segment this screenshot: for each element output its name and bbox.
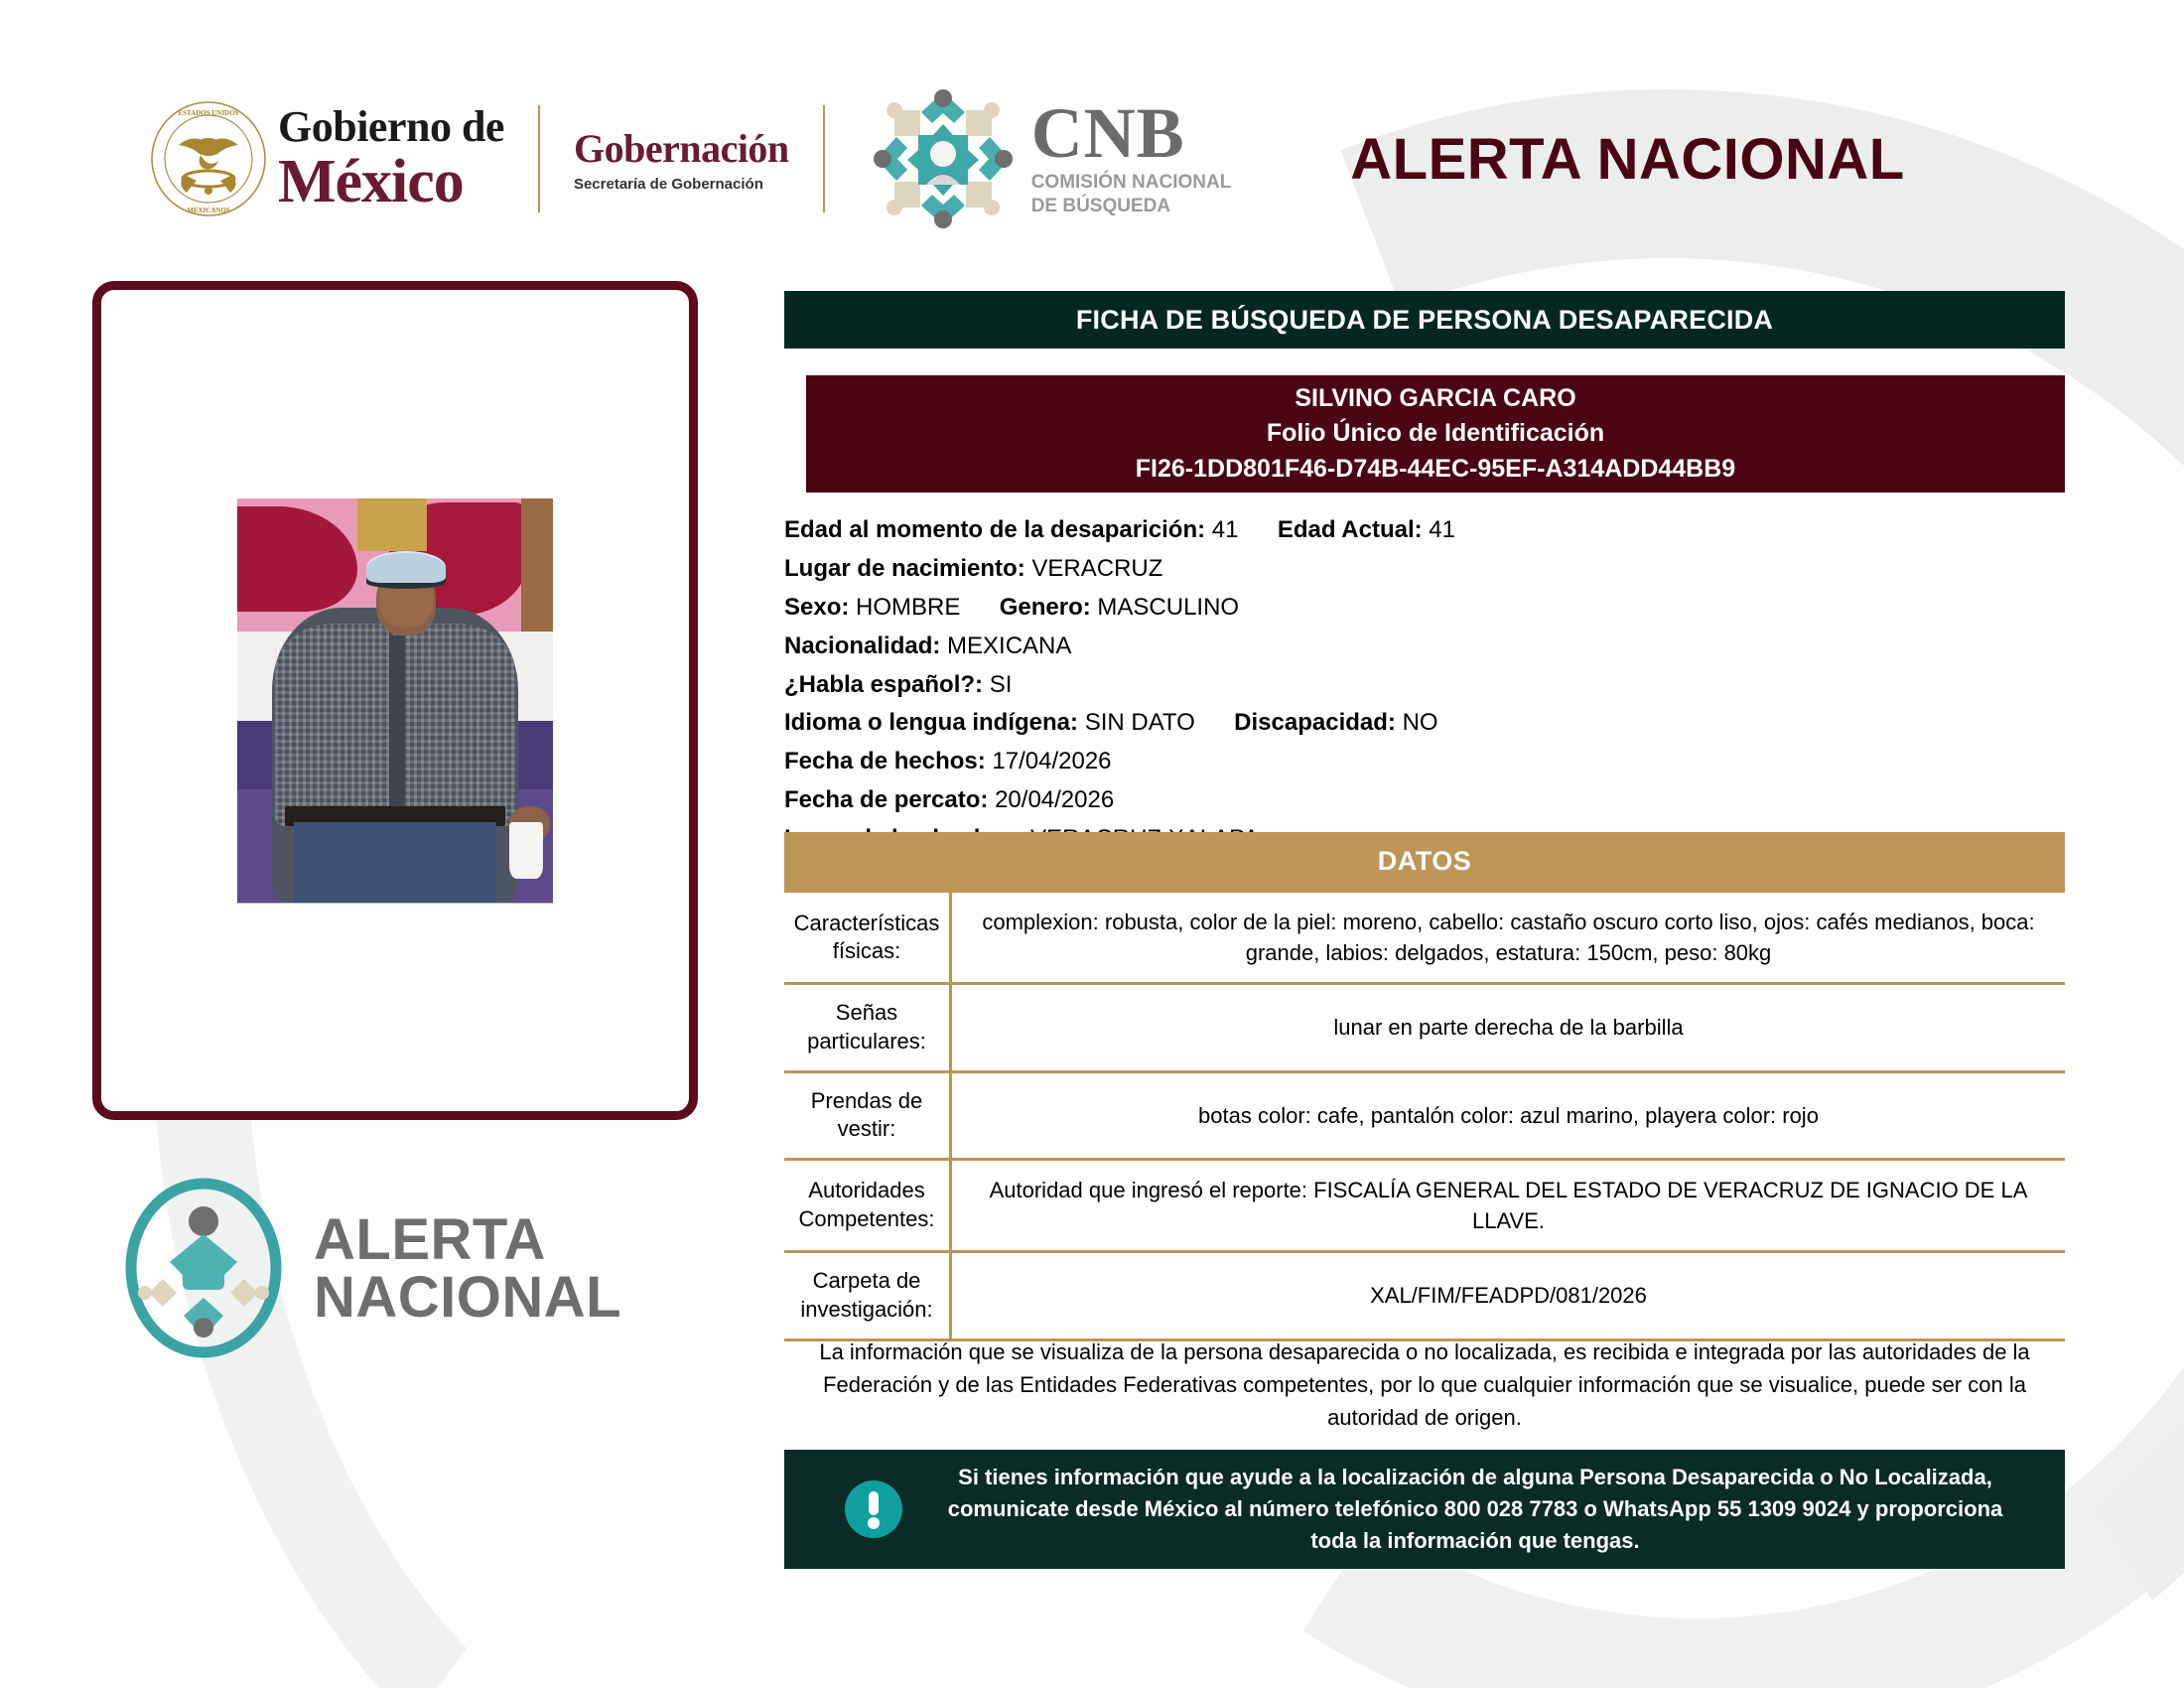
person-name: SILVINO GARCIA CARO bbox=[1295, 381, 1575, 417]
fecha-percato-value: 20/04/2026 bbox=[995, 786, 1114, 813]
table-row: Carpeta de investigación: XAL/FIM/FEADPD… bbox=[784, 1252, 2065, 1339]
row-value: Autoridad que ingresó el reporte: FISCAL… bbox=[951, 1159, 2066, 1251]
person-photo-frame bbox=[92, 281, 698, 1120]
row-value: lunar en parte derecha de la barbilla bbox=[951, 984, 2066, 1071]
alerta-logo-line1: ALERTA bbox=[314, 1211, 621, 1269]
fecha-hechos-value: 17/04/2026 bbox=[992, 748, 1111, 774]
gobernacion-subtitle: Secretaría de Gobernación bbox=[574, 176, 789, 193]
habla-espanol-label: ¿Habla español?: bbox=[784, 671, 983, 698]
cnb-subtitle-line2: DE BÚSQUEDA bbox=[1031, 196, 1170, 216]
alerta-nacional-title: ALERTA NACIONAL bbox=[1350, 126, 1904, 193]
cnb-acronym: CNB bbox=[1031, 99, 1232, 167]
alerta-logo-line2: NACIONAL bbox=[314, 1269, 621, 1327]
folio-label: Folio Único de Identificación bbox=[1267, 416, 1604, 452]
row-key: Prendas de vestir: bbox=[784, 1071, 951, 1159]
person-details: Edad al momento de la desaparición: 41 E… bbox=[784, 511, 2065, 859]
detail-row-fecha-hechos: Fecha de hechos: 17/04/2026 bbox=[784, 743, 2065, 781]
lugar-nacimiento-label: Lugar de nacimiento: bbox=[784, 555, 1025, 582]
table-row: Características físicas: complexion: rob… bbox=[784, 892, 2065, 984]
page-header: ESTADOS UNIDOS MEXICANOS Gobierno de Méx… bbox=[0, 94, 2184, 223]
edad-desaparicion-value: 41 bbox=[1212, 516, 1239, 543]
gobierno-line1: Gobierno de bbox=[278, 105, 504, 149]
row-value: complexion: robusta, color de la piel: m… bbox=[951, 892, 2066, 984]
alert-sheet: ESTADOS UNIDOS MEXICANOS Gobierno de Méx… bbox=[0, 0, 2184, 1688]
edad-desaparicion-label: Edad al momento de la desaparición: bbox=[784, 516, 1205, 543]
discapacidad-label: Discapacidad: bbox=[1234, 709, 1396, 736]
detail-row-espanol: ¿Habla español?: SI bbox=[784, 666, 2065, 705]
datos-section-header: DATOS bbox=[784, 832, 2065, 890]
gobernacion-wordmark: Gobernación Secretaría de Gobernación bbox=[574, 125, 789, 193]
svg-text:MEXICANOS: MEXICANOS bbox=[187, 207, 230, 214]
row-key: Autoridades Competentes: bbox=[784, 1159, 951, 1251]
row-value: XAL/FIM/FEADPD/081/2026 bbox=[951, 1252, 2066, 1339]
contact-banner: Si tienes información que ayude a la loc… bbox=[784, 1450, 2065, 1569]
sexo-value: HOMBRE bbox=[856, 594, 960, 621]
genero-value: MASCULINO bbox=[1097, 594, 1239, 621]
svg-text:ESTADOS UNIDOS: ESTADOS UNIDOS bbox=[178, 109, 238, 117]
mexico-coat-of-arms-icon: ESTADOS UNIDOS MEXICANOS bbox=[149, 99, 268, 218]
fecha-percato-label: Fecha de percato: bbox=[784, 786, 988, 813]
row-key: Características físicas: bbox=[784, 892, 951, 984]
contact-message: Si tienes información que ayude a la loc… bbox=[905, 1462, 2065, 1557]
idioma-value: SIN DATO bbox=[1085, 709, 1195, 736]
nacionalidad-value: MEXICANA bbox=[947, 633, 1071, 659]
genero-label: Genero: bbox=[1000, 594, 1091, 621]
gobierno-wordmark: Gobierno de México bbox=[278, 105, 504, 212]
folio-value: FI26-1DD801F46-D74B-44EC-95EF-A314ADD44B… bbox=[1136, 452, 1735, 488]
cnb-logo-block: CNB COMISIÓN NACIONAL DE BÚSQUEDA bbox=[869, 84, 1232, 233]
person-name-banner: SILVINO GARCIA CARO Folio Único de Ident… bbox=[806, 375, 2065, 492]
detail-row-edad: Edad al momento de la desaparición: 41 E… bbox=[784, 511, 2065, 550]
gobierno-line2: México bbox=[278, 151, 504, 212]
alerta-nacional-logo: ALERTA NACIONAL bbox=[119, 1177, 621, 1360]
lugar-nacimiento-value: VERACRUZ bbox=[1031, 555, 1162, 582]
detail-row-fecha-percato: Fecha de percato: 20/04/2026 bbox=[784, 781, 2065, 820]
row-value: botas color: cafe, pantalón color: azul … bbox=[951, 1071, 2066, 1159]
disclaimer-text: La información que se visualiza de la pe… bbox=[784, 1336, 2065, 1434]
discapacidad-value: NO bbox=[1403, 709, 1438, 736]
cnb-mandala-icon bbox=[869, 84, 1018, 233]
edad-actual-value: 41 bbox=[1429, 516, 1455, 543]
exclamation-icon bbox=[842, 1477, 905, 1541]
header-divider-1 bbox=[538, 105, 540, 212]
table-row: Señas particulares: lunar en parte derec… bbox=[784, 984, 2065, 1071]
person-photo bbox=[237, 498, 553, 904]
detail-row-idioma: Idioma o lengua indígena: SIN DATO Disca… bbox=[784, 704, 2065, 743]
gobernacion-title: Gobernación bbox=[574, 125, 789, 172]
habla-espanol-value: SI bbox=[990, 671, 1013, 698]
detail-row-nacionalidad: Nacionalidad: MEXICANA bbox=[784, 628, 2065, 666]
sexo-label: Sexo: bbox=[784, 594, 849, 621]
row-key: Señas particulares: bbox=[784, 984, 951, 1071]
cnb-subtitle-line1: COMISIÓN NACIONAL bbox=[1031, 172, 1232, 193]
datos-table: Características físicas: complexion: rob… bbox=[784, 890, 2065, 1341]
detail-row-nacimiento: Lugar de nacimiento: VERACRUZ bbox=[784, 550, 2065, 589]
nacionalidad-label: Nacionalidad: bbox=[784, 633, 940, 659]
ficha-title-banner: FICHA DE BÚSQUEDA DE PERSONA DESAPARECID… bbox=[784, 291, 2065, 349]
idioma-label: Idioma o lengua indígena: bbox=[784, 709, 1078, 736]
detail-row-sexo-genero: Sexo: HOMBRE Genero: MASCULINO bbox=[784, 589, 2065, 628]
alerta-nacional-emblem-icon bbox=[119, 1177, 288, 1360]
table-row: Prendas de vestir: botas color: cafe, pa… bbox=[784, 1071, 2065, 1159]
row-key: Carpeta de investigación: bbox=[784, 1252, 951, 1339]
table-row: Autoridades Competentes: Autoridad que i… bbox=[784, 1159, 2065, 1251]
fecha-hechos-label: Fecha de hechos: bbox=[784, 748, 986, 774]
edad-actual-label: Edad Actual: bbox=[1278, 516, 1423, 543]
header-divider-2 bbox=[823, 105, 825, 212]
